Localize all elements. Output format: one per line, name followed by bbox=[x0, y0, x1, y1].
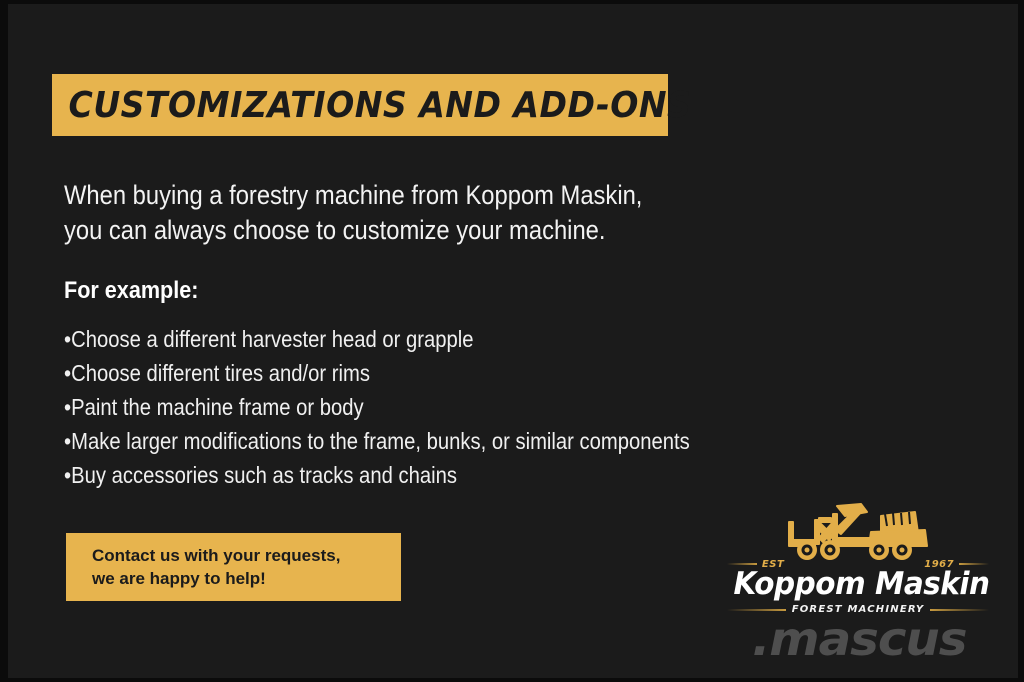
intro-line-1: When buying a forestry machine from Kopp… bbox=[64, 178, 698, 213]
list-item: •Buy accessories such as tracks and chai… bbox=[64, 458, 768, 492]
est-rule-right bbox=[959, 563, 989, 565]
bullet-marker-icon: • bbox=[64, 326, 71, 352]
list-item-label: Paint the machine frame or body bbox=[71, 394, 364, 420]
frame-edge-right bbox=[1018, 0, 1024, 682]
logo-wordmark: Koppom Maskin bbox=[734, 566, 983, 602]
list-item-label: Choose different tires and/or rims bbox=[71, 360, 370, 386]
forestry-forwarder-icon bbox=[775, 500, 940, 562]
koppom-maskin-logo: EST 1967 Koppom Maskin FOREST MACHINERY bbox=[727, 500, 989, 610]
intro-paragraph: When buying a forestry machine from Kopp… bbox=[64, 178, 698, 248]
cta-line-2: we are happy to help! bbox=[92, 567, 401, 590]
contact-cta-box[interactable]: Contact us with your requests, we are ha… bbox=[66, 533, 401, 601]
bullet-marker-icon: • bbox=[64, 428, 71, 454]
page-title: CUSTOMIZATIONS AND ADD-ONS bbox=[52, 85, 691, 126]
bullet-marker-icon: • bbox=[64, 462, 71, 488]
frame-edge-left bbox=[0, 0, 8, 682]
title-banner: CUSTOMIZATIONS AND ADD-ONS bbox=[52, 74, 668, 136]
example-heading: For example: bbox=[64, 277, 198, 305]
list-item-label: Buy accessories such as tracks and chain… bbox=[71, 462, 457, 488]
est-rule-left bbox=[727, 563, 757, 565]
list-item: •Choose a different harvester head or gr… bbox=[64, 322, 768, 356]
frame-edge-bottom bbox=[0, 678, 1024, 682]
list-item: •Choose different tires and/or rims bbox=[64, 356, 768, 390]
list-item: •Paint the machine frame or body bbox=[64, 390, 768, 424]
frame-edge-top bbox=[0, 0, 1024, 4]
tagline-rule-left bbox=[727, 609, 786, 611]
mascus-watermark: .mascus bbox=[752, 612, 966, 666]
list-item-label: Make larger modifications to the frame, … bbox=[71, 428, 690, 454]
cta-line-1: Contact us with your requests, bbox=[92, 544, 401, 567]
bullet-marker-icon: • bbox=[64, 360, 71, 386]
feature-bullet-list: •Choose a different harvester head or gr… bbox=[64, 322, 864, 492]
list-item: •Make larger modifications to the frame,… bbox=[64, 424, 768, 458]
list-item-label: Choose a different harvester head or gra… bbox=[71, 326, 473, 352]
intro-line-2: you can always choose to customize your … bbox=[64, 213, 698, 248]
tagline-rule-right bbox=[930, 609, 989, 611]
bullet-marker-icon: • bbox=[64, 394, 71, 420]
advertisement-slide: CUSTOMIZATIONS AND ADD-ONS When buying a… bbox=[0, 0, 1024, 682]
